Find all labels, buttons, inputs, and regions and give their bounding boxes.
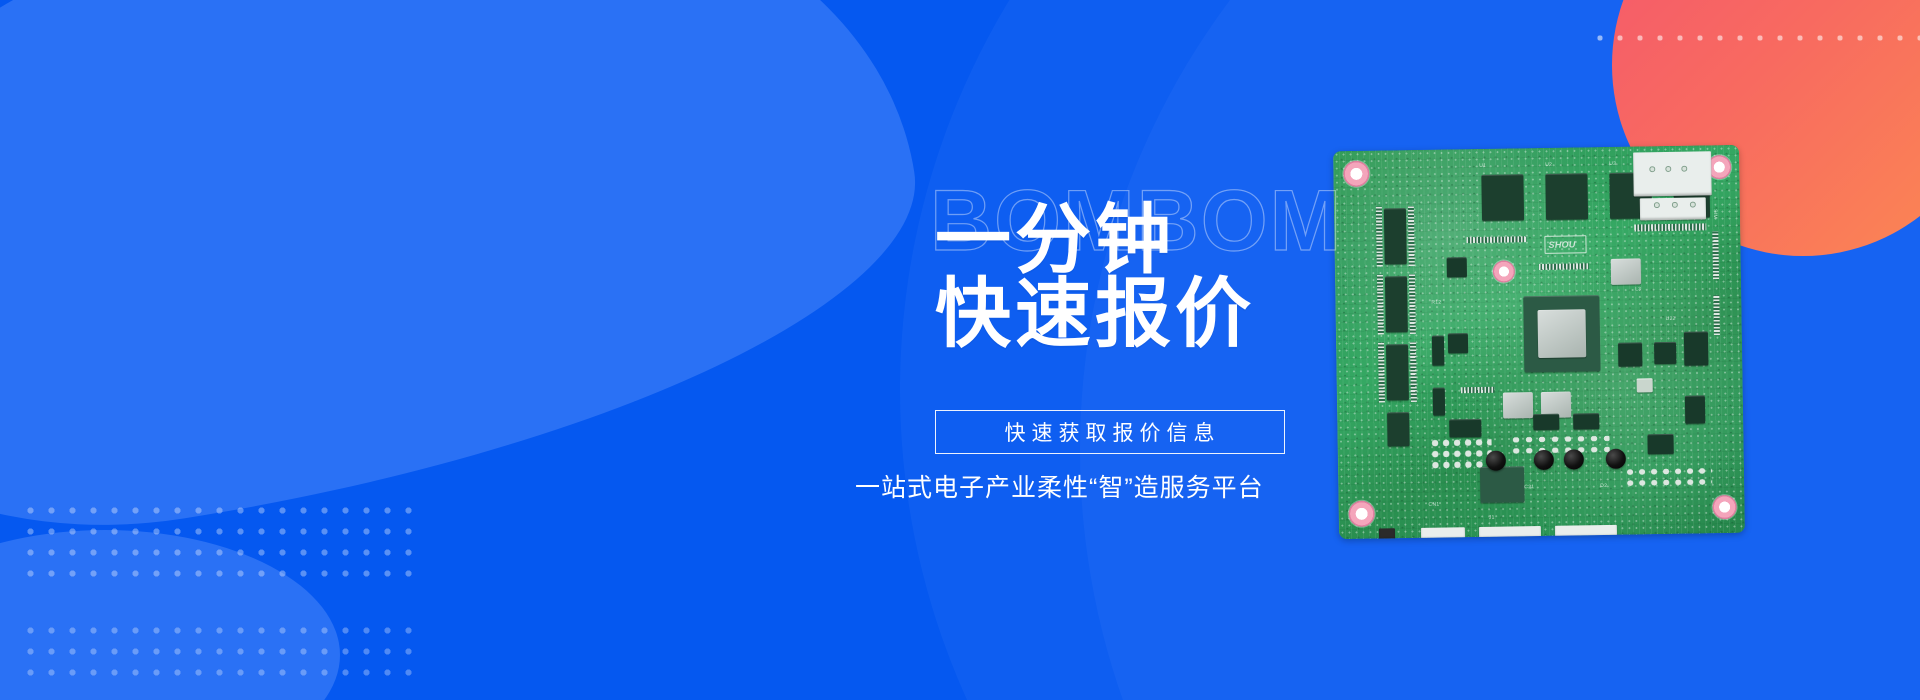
headline-line-1: 一分钟	[935, 198, 1175, 283]
headline-line-2: 快速报价	[935, 278, 1255, 352]
headline: 一分钟 快速报价	[935, 204, 1255, 352]
cta-button-label: 快速获取报价信息	[1000, 417, 1221, 447]
banner-content: BOMBOM 一分钟 快速报价 快速获取报价信息 一站式电子产业柔性“智”造服务…	[0, 0, 1920, 700]
subtitle-text: 一站式电子产业柔性“智”造服务平台	[855, 468, 1264, 504]
cta-button[interactable]: 快速获取报价信息	[935, 410, 1285, 454]
promo-banner: SHOU U1 U2 U3 U4 R12 L3 C21 D2 SIM CN1 J…	[0, 0, 1920, 700]
